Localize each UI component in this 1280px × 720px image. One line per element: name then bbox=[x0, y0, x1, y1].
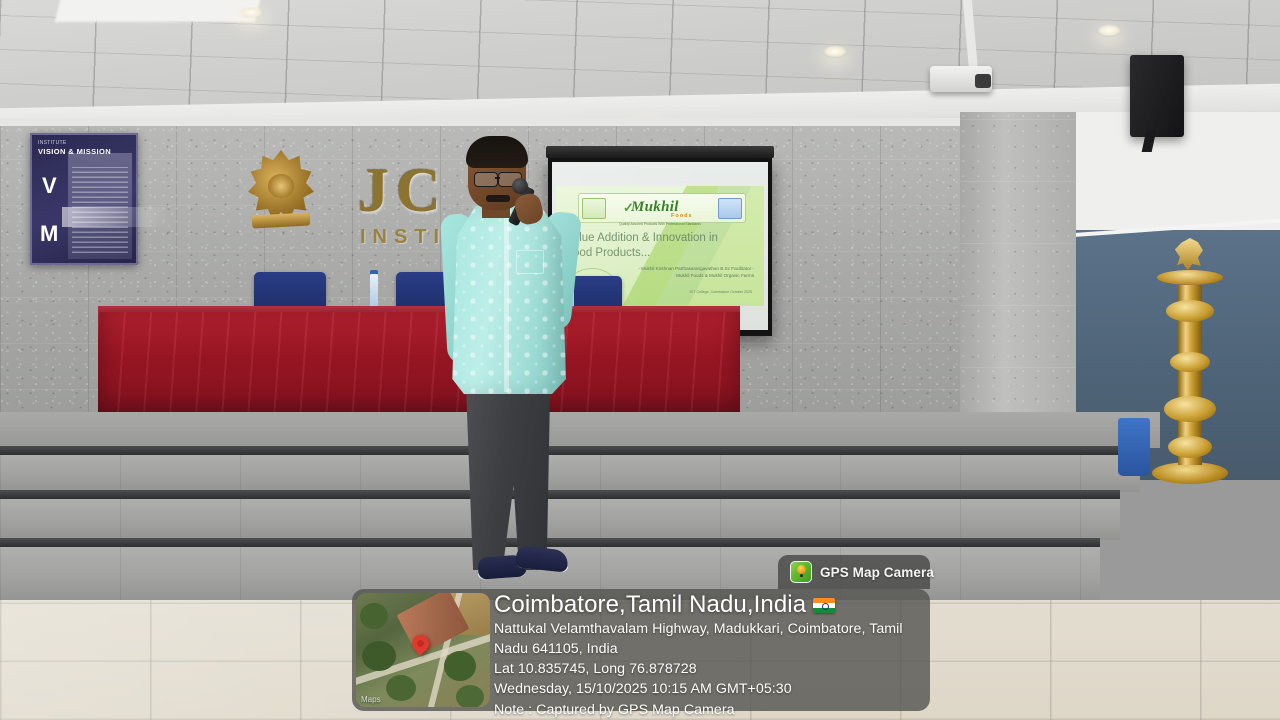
speaker-hair bbox=[466, 136, 528, 168]
lamp-knob bbox=[1170, 352, 1210, 372]
stage-step bbox=[0, 492, 1120, 540]
map-vegetation bbox=[444, 651, 476, 681]
gps-note: Note : Captured by GPS Map Camera bbox=[494, 700, 924, 720]
board-letter-m: M bbox=[40, 221, 58, 247]
wall-lettering-jc: JC bbox=[358, 156, 448, 227]
water-bottle bbox=[370, 274, 378, 308]
microphone-head-icon bbox=[512, 178, 528, 194]
vision-mission-board: INSTITUTE VISION & MISSION V M bbox=[30, 133, 138, 265]
india-flag-icon bbox=[813, 598, 835, 613]
map-vegetation bbox=[362, 641, 396, 671]
board-title: VISION & MISSION bbox=[38, 147, 111, 156]
lamp-base bbox=[1152, 462, 1228, 484]
gps-details: Coimbatore,Tamil Nadu,India Nattukal Vel… bbox=[494, 592, 924, 720]
bottle-cap bbox=[370, 270, 378, 274]
board-eyebrow: INSTITUTE bbox=[38, 140, 67, 146]
emblem-hub bbox=[268, 174, 294, 198]
board-glare bbox=[62, 207, 166, 227]
shirt-placket bbox=[504, 210, 509, 392]
map-attribution: Maps bbox=[361, 695, 381, 704]
step-nosing bbox=[0, 446, 1140, 455]
downlight-icon bbox=[822, 45, 848, 58]
lamp-knob bbox=[1164, 396, 1216, 422]
photo-screenshot: INSTITUTE VISION & MISSION V M JC INSTIT… bbox=[0, 0, 1280, 720]
projector-lens-icon bbox=[975, 74, 991, 88]
waste-bin bbox=[1118, 418, 1150, 476]
screen-roller-case bbox=[546, 146, 774, 158]
lamp-oil-dish bbox=[1157, 270, 1223, 285]
lamp-knob bbox=[1166, 300, 1214, 322]
gps-location-text: Coimbatore,Tamil Nadu,India bbox=[494, 592, 806, 619]
ceiling-skylight bbox=[55, 0, 261, 22]
map-vegetation bbox=[360, 603, 388, 629]
board-letter-v: V bbox=[42, 173, 57, 199]
map-vegetation bbox=[386, 675, 416, 701]
eyeglasses-icon bbox=[474, 172, 498, 187]
gps-map-camera-badge[interactable]: GPS Map Camera bbox=[778, 555, 930, 589]
map-vegetation bbox=[456, 685, 484, 707]
eyeglass-bridge bbox=[495, 177, 500, 179]
downlight-icon bbox=[238, 6, 264, 19]
shirt-pocket bbox=[516, 250, 544, 274]
gps-location-title: Coimbatore,Tamil Nadu,India bbox=[494, 592, 924, 619]
wall-speaker bbox=[1130, 55, 1184, 137]
step-nosing bbox=[0, 538, 1100, 547]
gps-map-thumbnail[interactable]: Maps bbox=[356, 593, 490, 707]
table-cloth-folds bbox=[98, 312, 740, 416]
speaker-mustache bbox=[486, 195, 510, 202]
gps-map-camera-logo-icon bbox=[790, 561, 812, 583]
gps-address: Nattukal Velamthavalam Highway, Madukkar… bbox=[494, 619, 924, 659]
stage-front bbox=[0, 412, 1160, 448]
gps-coordinates: Lat 10.835745, Long 76.878728 bbox=[494, 659, 924, 679]
gps-datetime: Wednesday, 15/10/2025 10:15 AM GMT+05:30 bbox=[494, 679, 924, 699]
downlight-icon bbox=[1096, 24, 1122, 37]
lamp-knob bbox=[1168, 436, 1212, 458]
gps-app-name: GPS Map Camera bbox=[820, 565, 934, 580]
step-nosing bbox=[0, 490, 1120, 499]
